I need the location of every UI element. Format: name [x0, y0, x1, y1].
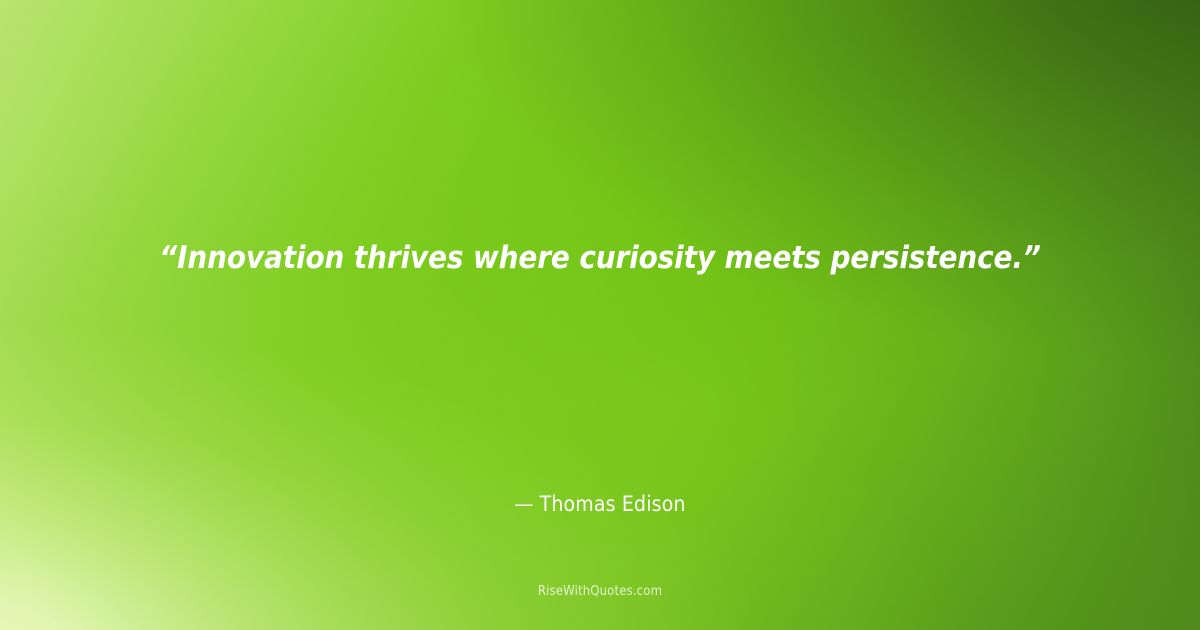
site-watermark: RiseWithQuotes.com: [0, 584, 1200, 599]
quote-content: “Innovation thrives where curiosity meet…: [0, 0, 1200, 630]
quote-attribution: — Thomas Edison: [0, 492, 1200, 516]
quote-card: “Innovation thrives where curiosity meet…: [0, 0, 1200, 630]
quote-text: “Innovation thrives where curiosity meet…: [0, 0, 1200, 277]
